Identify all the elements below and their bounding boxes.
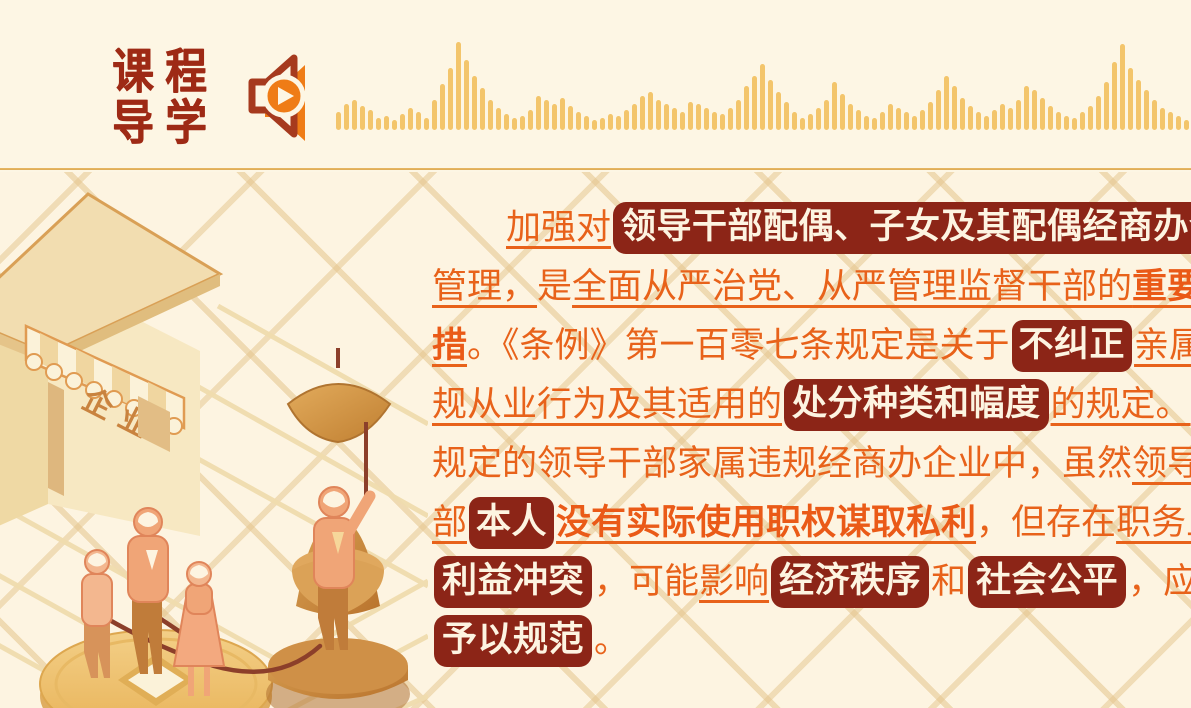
body-text: 和 <box>931 552 966 611</box>
waveform-bar <box>1152 100 1157 130</box>
waveform-bar <box>672 108 677 130</box>
waveform-bar <box>952 86 957 130</box>
waveform-bar <box>704 108 709 130</box>
waveform-bar <box>1032 90 1037 130</box>
waveform-bar <box>760 64 765 130</box>
waveform-bar <box>448 68 453 130</box>
waveform-bar <box>720 114 725 130</box>
waveform-bar <box>856 110 861 130</box>
underlined-text: 管理， <box>432 257 537 316</box>
waveform-bar <box>592 120 597 130</box>
audio-waveform <box>336 20 1136 130</box>
waveform-bar <box>832 82 837 130</box>
waveform-bar <box>1016 100 1021 130</box>
page-title: 课 程 导 学 <box>106 48 210 148</box>
highlight-phrase: 本人 <box>469 497 554 549</box>
underlined-text: 加强对 <box>506 198 611 257</box>
waveform-bar <box>352 100 357 130</box>
waveform-bar <box>384 116 389 130</box>
waveform-bar <box>1056 112 1061 130</box>
paragraph-line: 加强对领导干部配偶、子女及其配偶经商办企业 <box>432 198 1170 257</box>
waveform-bar <box>368 110 373 130</box>
waveform-bar <box>608 114 613 130</box>
waveform-bar <box>896 108 901 130</box>
header-divider <box>0 168 1191 170</box>
waveform-bar <box>1088 106 1093 130</box>
header-bar: 课 程 导 学 <box>0 0 1191 170</box>
article-paragraph: 加强对领导干部配偶、子女及其配偶经商办企业管理，是全面从严治党、从严管理监督干部… <box>432 198 1170 670</box>
emphasis-text: 措 <box>432 316 467 375</box>
waveform-bar <box>600 118 605 130</box>
title-char-3: 导 <box>108 98 155 150</box>
highlight-phrase: 经济秩序 <box>771 556 929 608</box>
waveform-bar <box>824 100 829 130</box>
waveform-bar <box>1128 68 1133 130</box>
waveform-bar <box>960 98 965 130</box>
waveform-bar <box>1040 98 1045 130</box>
waveform-bar <box>864 116 869 130</box>
waveform-bar <box>456 42 461 130</box>
body-text: 。《条例》第一百零七条规定是关于 <box>467 316 1010 375</box>
highlight-phrase: 社会公平 <box>968 556 1126 608</box>
paragraph-line: 管理，是全面从严治党、从严管理监督干部的重要举 <box>432 257 1170 316</box>
waveform-bar <box>576 112 581 130</box>
waveform-bar <box>696 104 701 130</box>
paragraph-line: 规定的领导干部家属违规经商办企业中，虽然领导干 <box>432 434 1170 493</box>
paragraph-line: 利益冲突，可能影响经济秩序和社会公平，应当 <box>432 552 1170 611</box>
waveform-bar <box>880 112 885 130</box>
waveform-bar <box>1168 112 1173 130</box>
waveform-bar <box>392 120 397 130</box>
body-text: ，可能 <box>594 552 699 611</box>
waveform-bar <box>800 118 805 130</box>
waveform-bar <box>568 106 573 130</box>
title-char-2: 程 <box>161 47 208 99</box>
waveform-bar <box>1048 106 1053 130</box>
waveform-bar <box>992 110 997 130</box>
underlined-text: 影响 <box>699 552 769 611</box>
paragraph-line: 部本人没有实际使用职权谋取私利，但存在职务上的 <box>432 493 1170 552</box>
waveform-bar <box>816 108 821 130</box>
underlined-text: 部 <box>432 493 467 552</box>
waveform-bar <box>1064 116 1069 130</box>
waveform-bar <box>976 112 981 130</box>
waveform-bar <box>712 112 717 130</box>
waveform-bar <box>1104 82 1109 130</box>
waveform-bar <box>1000 104 1005 130</box>
waveform-bar <box>1080 112 1085 130</box>
waveform-bar <box>840 94 845 130</box>
waveform-bar <box>360 106 365 130</box>
underlined-text: 职务上的 <box>1116 493 1191 552</box>
waveform-bar <box>744 86 749 130</box>
waveform-bar <box>872 118 877 130</box>
waveform-bar <box>512 118 517 130</box>
waveform-bar <box>632 104 637 130</box>
paragraph-line: 予以规范。 <box>432 611 1170 670</box>
waveform-bar <box>640 96 645 130</box>
highlight-phrase: 不纠正 <box>1012 320 1133 372</box>
waveform-bar <box>808 114 813 130</box>
waveform-bar <box>984 116 989 130</box>
waveform-bar <box>1160 108 1165 130</box>
highlight-phrase: 利益冲突 <box>434 556 592 608</box>
body-text: 。 <box>594 611 629 670</box>
body-text: ，但存在 <box>976 493 1116 552</box>
waveform-bar <box>968 106 973 130</box>
waveform-bar <box>912 116 917 130</box>
waveform-bar <box>544 100 549 130</box>
waveform-bar <box>648 92 653 130</box>
highlight-phrase: 予以规范 <box>434 615 592 667</box>
waveform-bar <box>776 92 781 130</box>
paragraph-line: 规从业行为及其适用的处分种类和幅度的规定。本条 <box>432 375 1170 434</box>
waveform-bar <box>848 104 853 130</box>
waveform-bar <box>504 114 509 130</box>
body-text: 规定的领导干部家属违规经商办企业中，虽然 <box>432 434 1132 493</box>
waveform-bar <box>1176 116 1181 130</box>
waveform-bar <box>496 108 501 130</box>
waveform-bar <box>680 112 685 130</box>
waveform-bar <box>728 108 733 130</box>
waveform-bar <box>616 116 621 130</box>
waveform-bar <box>344 104 349 130</box>
isometric-enterprise-coin-illustration: 企 业 <box>0 172 428 708</box>
underlined-text: 领导干 <box>1132 434 1191 493</box>
waveform-bar <box>664 104 669 130</box>
waveform-bar <box>336 112 341 130</box>
waveform-bar <box>688 102 693 130</box>
waveform-bar <box>928 102 933 130</box>
body-text: 是 <box>537 257 572 316</box>
waveform-bar <box>440 84 445 130</box>
waveform-bar <box>888 104 893 130</box>
waveform-bar <box>1072 118 1077 130</box>
waveform-bar <box>752 76 757 130</box>
highlight-phrase: 领导干部配偶、子女及其配偶经商办企业 <box>613 202 1191 254</box>
highlight-phrase: 处分种类和幅度 <box>784 379 1049 431</box>
waveform-bar <box>528 110 533 130</box>
poster-page: 课 程 导 学 <box>0 0 1191 708</box>
waveform-bar <box>536 96 541 130</box>
waveform-bar <box>400 114 405 130</box>
waveform-bar <box>552 104 557 130</box>
waveform-bar <box>944 76 949 130</box>
waveform-bar <box>904 112 909 130</box>
waveform-bar <box>1008 108 1013 130</box>
waveform-bar <box>488 100 493 130</box>
waveform-bar <box>1184 120 1189 130</box>
waveform-bar <box>792 112 797 130</box>
title-char-4: 学 <box>161 98 208 150</box>
waveform-bar <box>376 118 381 130</box>
underlined-text: 全面从严治党、从严管理监督干部的 <box>572 257 1132 316</box>
emphasis-text: 重要举 <box>1132 257 1191 316</box>
title-char-1: 课 <box>108 47 155 99</box>
waveform-bar <box>480 88 485 130</box>
waveform-bar <box>920 110 925 130</box>
waveform-bar <box>936 90 941 130</box>
waveform-bar <box>520 116 525 130</box>
underlined-text: 规从业行为及其适用的 <box>432 375 782 434</box>
content-area: 企 业 <box>0 172 1191 708</box>
waveform-bar <box>472 76 477 130</box>
paragraph-line: 措。《条例》第一百零七条规定是关于不纠正亲属违 <box>432 316 1170 375</box>
waveform-bar <box>560 98 565 130</box>
waveform-bar <box>1144 90 1149 130</box>
waveform-bar <box>768 80 773 130</box>
waveform-bar <box>424 118 429 130</box>
waveform-bar <box>416 112 421 130</box>
waveform-bar <box>408 108 413 130</box>
waveform-bar <box>736 100 741 130</box>
body-text: ，应当 <box>1128 552 1191 611</box>
waveform-bar <box>1112 62 1117 130</box>
waveform-bar <box>1096 96 1101 130</box>
waveform-bar <box>656 100 661 130</box>
emphasis-text: 没有实际使用职权谋取私利 <box>556 493 976 552</box>
waveform-bar <box>432 100 437 130</box>
waveform-bar <box>584 116 589 130</box>
waveform-bar <box>1120 44 1125 130</box>
underlined-text: 亲属违 <box>1134 316 1191 375</box>
waveform-bar <box>1024 86 1029 130</box>
speaker-play-icon[interactable] <box>232 48 330 144</box>
waveform-bar <box>1136 80 1141 130</box>
waveform-bar <box>624 110 629 130</box>
underlined-text: 的规定。 <box>1051 375 1191 434</box>
waveform-bar <box>784 102 789 130</box>
waveform-bar <box>464 60 469 130</box>
